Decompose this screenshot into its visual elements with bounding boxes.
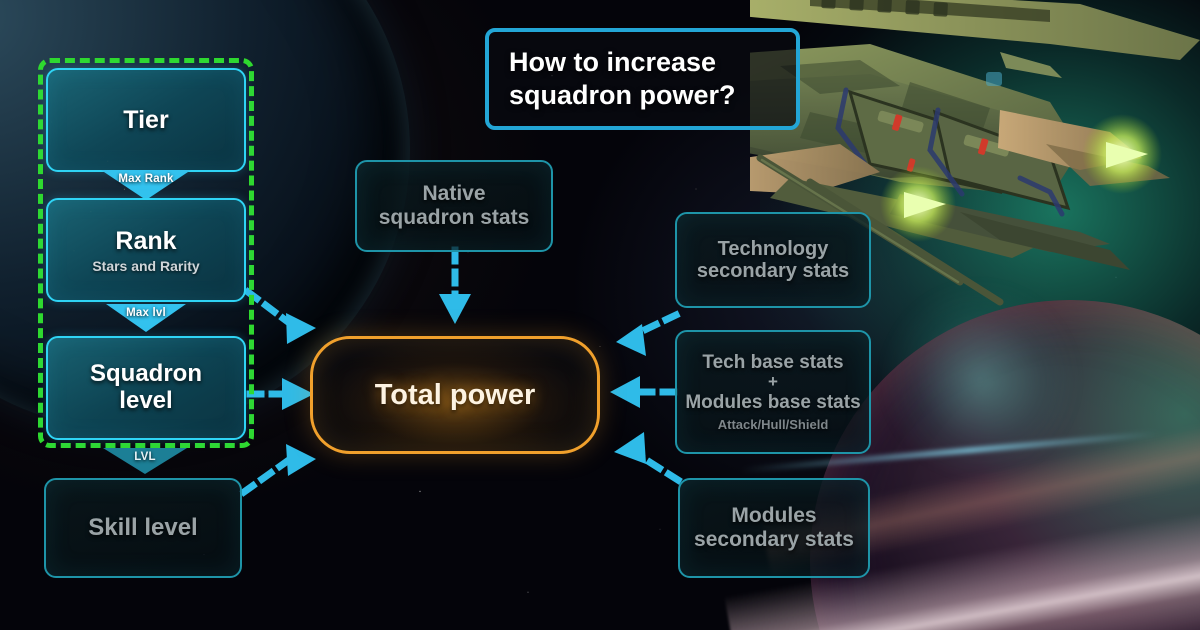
node-tier-title: Tier (123, 106, 168, 134)
node-tier[interactable]: Tier (46, 68, 246, 172)
node-rank-title: Rank (115, 227, 176, 255)
connector-lvl: LVL (103, 448, 187, 474)
node-modules-title-1: Modules (731, 504, 816, 528)
node-modules-secondary-stats[interactable]: Modules secondary stats (678, 478, 870, 578)
node-techbase-plus: + (768, 373, 778, 392)
node-total-power-title: Total power (375, 379, 536, 411)
node-native-title-2: squadron stats (379, 206, 530, 230)
connector-max-lvl: Max lvl (106, 304, 186, 332)
node-techbase-title-1: Tech base stats (702, 352, 843, 373)
node-technology-title-2: secondary stats (697, 260, 849, 282)
infographic-stage: .dot { stroke:#2fbbe8; stroke-width:7; s… (0, 0, 1200, 630)
node-technology-title-1: Technology (718, 238, 829, 260)
node-tech-and-modules-base-stats[interactable]: Tech base stats + Modules base stats Att… (675, 330, 871, 454)
node-rank-subtitle: Stars and Rarity (92, 258, 199, 274)
node-techbase-title-2: Modules base stats (685, 392, 860, 413)
node-modules-title-2: secondary stats (694, 528, 854, 552)
connector-max-rank-label: Max Rank (118, 173, 173, 185)
node-skill-level[interactable]: Skill level (44, 478, 242, 578)
node-native-squadron-stats[interactable]: Native squadron stats (355, 160, 553, 252)
title-line-1: How to increase (509, 46, 796, 79)
title-callout: How to increase squadron power? (485, 28, 800, 130)
connector-max-rank: Max Rank (101, 170, 191, 200)
node-rank[interactable]: Rank Stars and Rarity (46, 198, 246, 302)
node-skill-level-title: Skill level (88, 515, 197, 542)
connector-max-lvl-label: Max lvl (126, 307, 166, 319)
node-squadron-level[interactable]: Squadron level (46, 336, 246, 440)
node-techbase-subtitle: Attack/Hull/Shield (718, 417, 829, 432)
node-squadron-level-title-2: level (119, 388, 172, 415)
node-technology-secondary-stats[interactable]: Technology secondary stats (675, 212, 871, 308)
title-line-2: squadron power? (509, 79, 796, 112)
node-total-power[interactable]: Total power (310, 336, 600, 454)
node-native-title-1: Native (422, 182, 485, 206)
connector-lvl-label: LVL (134, 451, 155, 463)
node-squadron-level-title-1: Squadron (90, 361, 202, 388)
